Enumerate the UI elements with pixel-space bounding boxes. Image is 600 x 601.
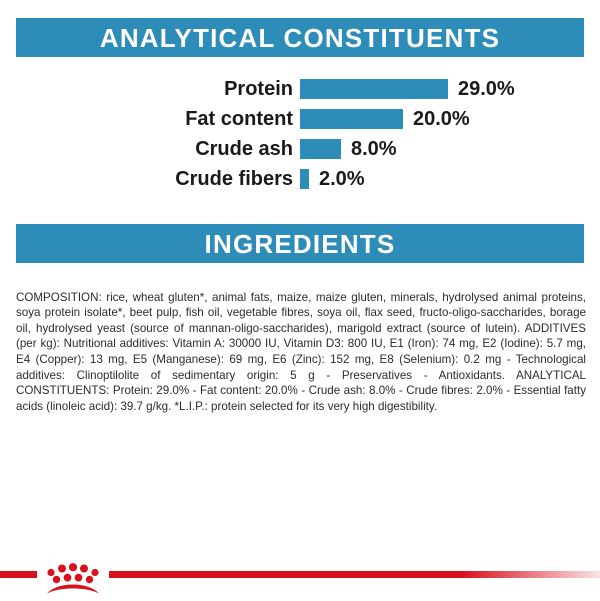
chart-bar-label: Fat content <box>0 109 293 129</box>
footer-rule-right <box>109 571 600 578</box>
chart-row: Crude fibers 2.0% <box>0 164 600 194</box>
footer-brand <box>0 556 600 600</box>
section-title-ingredients: INGREDIENTS <box>205 231 396 257</box>
chart-bar-label: Protein <box>0 79 293 99</box>
chart-bar-group: 29.0% <box>300 79 515 99</box>
chart-bar-value: 8.0% <box>351 139 397 159</box>
chart-row: Protein 29.0% <box>0 74 600 104</box>
chart-bar-label: Crude fibers <box>0 169 293 189</box>
chart-bar <box>300 79 448 99</box>
analytical-constituents-chart: Protein 29.0% Fat content 20.0% Crude as… <box>0 74 600 194</box>
footer-rule-left <box>0 571 37 578</box>
chart-bar-value: 20.0% <box>413 109 470 129</box>
chart-bar-group: 2.0% <box>300 169 365 189</box>
product-info-page: ANALYTICAL CONSTITUENTS Protein 29.0% Fa… <box>0 0 600 600</box>
chart-row: Fat content 20.0% <box>0 104 600 134</box>
chart-bar-value: 29.0% <box>458 79 515 99</box>
section-header-analytical-constituents: ANALYTICAL CONSTITUENTS <box>16 18 584 57</box>
section-title-analytical-constituents: ANALYTICAL CONSTITUENTS <box>100 25 500 51</box>
chart-bar-group: 20.0% <box>300 109 470 129</box>
chart-bar-group: 8.0% <box>300 139 397 159</box>
chart-row: Crude ash 8.0% <box>0 134 600 164</box>
chart-bar-label: Crude ash <box>0 139 293 159</box>
section-header-ingredients: INGREDIENTS <box>16 224 584 263</box>
chart-bar-value: 2.0% <box>319 169 365 189</box>
chart-bar <box>300 109 403 129</box>
royal-canin-crown-icon <box>41 556 105 596</box>
composition-paragraph: COMPOSITION: rice, wheat gluten*, animal… <box>16 290 586 415</box>
chart-bar <box>300 169 309 189</box>
chart-bar <box>300 139 341 159</box>
